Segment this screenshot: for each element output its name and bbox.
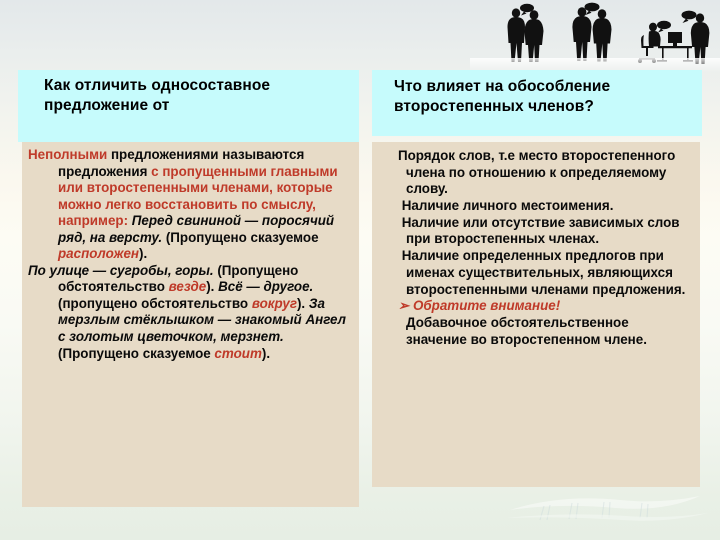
factor-item-text: Наличие определенных предлогов при имена… <box>398 248 685 296</box>
factor-item-number: 3. <box>380 215 398 232</box>
text-run-7: ). <box>139 246 147 261</box>
factor-item-number: 1. <box>380 148 398 165</box>
right-question-title-box: Что влияет на обособление второстепенных… <box>372 70 702 136</box>
text-run-6: вокруг <box>252 296 297 311</box>
definition-paragraph: Неполными предложениями называются предл… <box>28 147 352 263</box>
text-run-11: ). <box>262 346 270 361</box>
factor-item-text: Порядок слов, т.е место второстепенного … <box>398 148 675 196</box>
text-run-5: (пропущено обстоятельство <box>58 296 252 311</box>
factor-item: 1.Порядок слов, т.е место второстепенног… <box>380 148 692 198</box>
factor-item-number: 4. <box>380 248 398 265</box>
left-content-box: Неполными предложениями называются предл… <box>22 142 359 507</box>
text-run-9: (Пропущено сказуемое <box>58 346 214 361</box>
factor-item: 3. Наличие или отсутствие зависимых слов… <box>380 215 692 248</box>
right-question-title: Что влияет на обособление второстепенных… <box>394 77 696 117</box>
attention-body: Добавочное обстоятельственное значение в… <box>406 315 647 347</box>
attention-arrow-icon: ➢ <box>398 298 409 313</box>
text-run-6: расположен <box>58 246 139 261</box>
attention-heading-text: Обратите внимание! <box>413 298 560 313</box>
text-run-2: везде <box>169 279 207 294</box>
text-run-0: Неполными <box>28 147 107 162</box>
decorative-watermark <box>500 488 710 528</box>
attention-bullet-icon: ▯▯ <box>380 299 398 314</box>
business-people-silhouette-illustration <box>494 2 716 68</box>
factors-list: 1.Порядок слов, т.е место второстепенног… <box>380 148 692 298</box>
text-run-7: ). <box>297 296 309 311</box>
text-run-4: Всё — другое. <box>218 279 313 294</box>
text-run-3: ). <box>206 279 218 294</box>
left-question-title: Как отличить односоставное предложение о… <box>44 76 351 116</box>
factor-item: 4. Наличие определенных предлогов при им… <box>380 248 692 298</box>
factor-item-text: Наличие или отсутствие зависимых слов пр… <box>398 215 680 247</box>
factor-item-text: Наличие личного местоимения. <box>398 198 613 213</box>
text-run-5: (Пропущено сказуемое <box>162 230 318 245</box>
factor-item: 2. Наличие личного местоимения. <box>380 198 692 215</box>
examples-paragraph: По улице — сугробы, горы. (Пропущено обс… <box>28 263 352 362</box>
attention-note: ▯▯➢ Обратите внимание!Добавочное обстоят… <box>380 298 692 348</box>
slide-canvas: Как отличить односоставное предложение о… <box>0 0 720 540</box>
right-content-box: 1.Порядок слов, т.е место второстепенног… <box>372 142 700 487</box>
text-run-0: По улице — сугробы, горы. <box>28 263 214 278</box>
text-run-10: стоит <box>214 346 261 361</box>
left-question-title-box: Как отличить односоставное предложение о… <box>18 70 359 142</box>
factor-item-number: 2. <box>380 198 398 215</box>
